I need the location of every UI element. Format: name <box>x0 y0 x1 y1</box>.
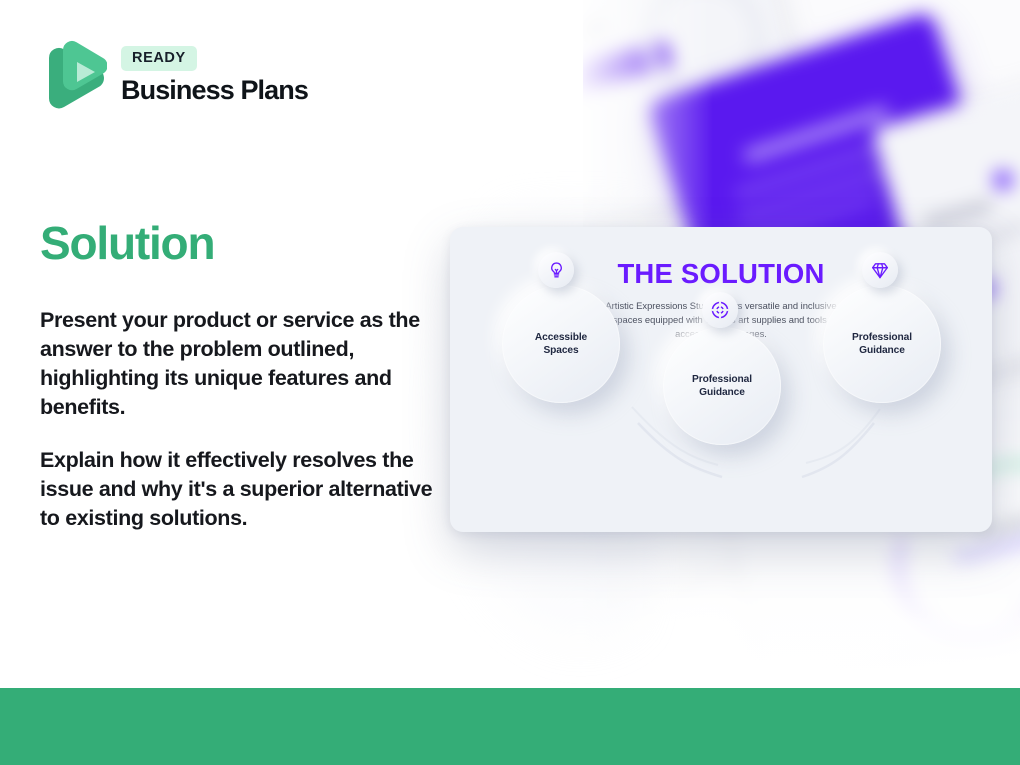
footer-green-bar <box>0 688 1020 765</box>
feature-bubble-professional-guidance[interactable]: ProfessionalGuidance <box>823 285 941 403</box>
play-logo-icon <box>41 38 107 112</box>
diamond-icon-chip[interactable] <box>862 252 898 288</box>
ready-badge: READY <box>121 46 197 71</box>
lightbulb-icon <box>547 261 566 280</box>
diamond-icon <box>870 260 890 280</box>
bg-dot-purple-1 <box>993 170 1013 190</box>
page-title: Solution <box>40 216 214 270</box>
feature-bubble-label: ProfessionalGuidance <box>692 373 752 400</box>
brand-title: Business Plans <box>121 76 308 104</box>
feature-bubble-affordable-fees[interactable]: ProfessionalGuidance <box>663 327 781 445</box>
lightbulb-icon-chip[interactable] <box>538 252 574 288</box>
body-paragraph-1: Present your product or service as the a… <box>40 306 440 422</box>
body-copy: Present your product or service as the a… <box>40 306 440 533</box>
feature-bubbles-group: AccessibleSpaces ProfessionalGuidance Pr… <box>450 227 992 532</box>
body-paragraph-2: Explain how it effectively resolves the … <box>40 446 440 533</box>
lifebuoy-icon-chip[interactable] <box>702 292 738 328</box>
feature-bubble-label: ProfessionalGuidance <box>852 331 912 358</box>
feature-bubble-label: AccessibleSpaces <box>535 331 587 358</box>
brand-text-block: READY Business Plans <box>121 46 308 104</box>
lifebuoy-icon <box>710 300 730 320</box>
feature-bubble-accessible-spaces[interactable]: AccessibleSpaces <box>502 285 620 403</box>
slide-preview-card[interactable]: THE SOLUTION Artistic Expressions Studio… <box>450 227 992 532</box>
brand-logo-row: READY Business Plans <box>41 38 308 112</box>
